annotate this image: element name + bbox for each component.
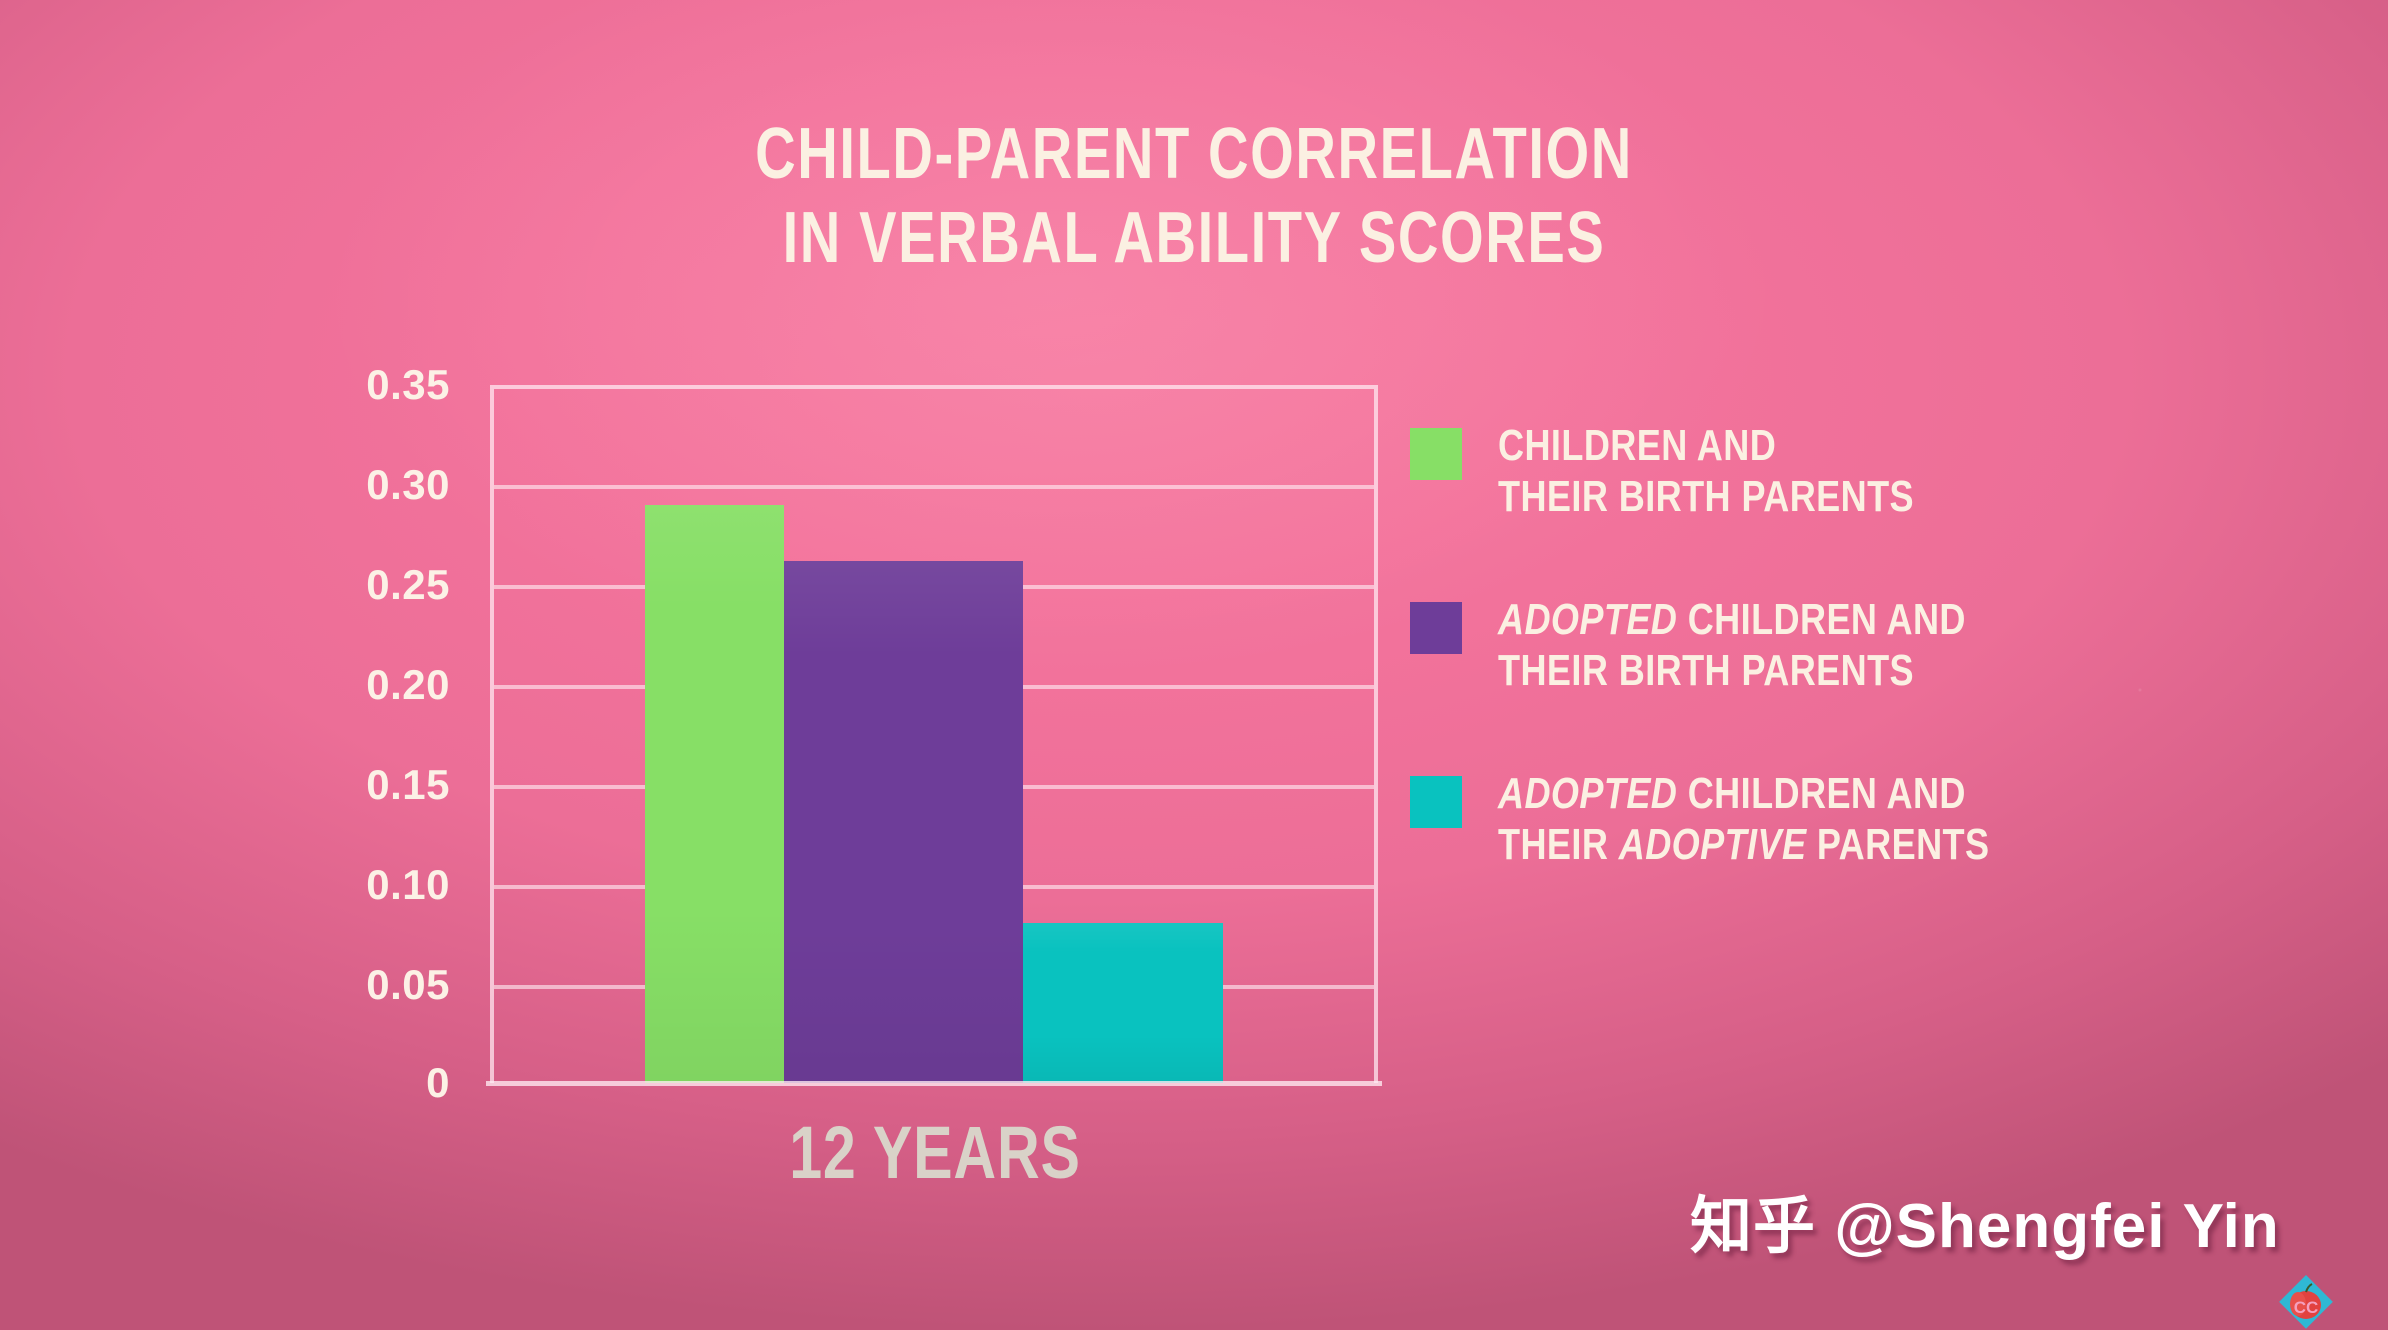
legend-rest: CHILDREN AND xyxy=(1677,595,1966,644)
legend-prefix: THEIR xyxy=(1498,820,1619,869)
crashcourse-logo-letters: CC xyxy=(2294,1298,2319,1317)
legend-label-line-1: CHILDREN AND xyxy=(1498,420,1914,471)
page-title-line-2: IN VERBAL ABILITY SCORES xyxy=(263,196,2126,280)
x-axis-category-label: 12 YEARS xyxy=(699,1110,1171,1195)
legend-rest: THEIR BIRTH PARENTS xyxy=(1498,646,1914,695)
legend-label-line-2: THEIR BIRTH PARENTS xyxy=(1498,645,1966,696)
y-tick-label: 0.30 xyxy=(250,461,450,509)
legend-swatch-cyan xyxy=(1410,776,1462,828)
legend-label: ADOPTED CHILDREN AND THEIR ADOPTIVE PARE… xyxy=(1498,768,1989,870)
legend-item-adopted-children-adoptive-parents[interactable]: ADOPTED CHILDREN AND THEIR ADOPTIVE PARE… xyxy=(1410,768,2350,870)
legend-label: CHILDREN AND THEIR BIRTH PARENTS xyxy=(1498,420,1914,522)
legend-label-line-2: THEIR BIRTH PARENTS xyxy=(1498,471,1914,522)
legend-label: ADOPTED CHILDREN AND THEIR BIRTH PARENTS xyxy=(1498,594,1966,696)
bar-sheen xyxy=(1023,923,1223,1083)
bar-adopted-children-birth-parents[interactable] xyxy=(784,561,1023,1084)
legend-rest: CHILDREN AND xyxy=(1677,769,1966,818)
bar-children-birth-parents[interactable] xyxy=(645,505,784,1083)
legend-label-line-1: ADOPTED CHILDREN AND xyxy=(1498,768,1989,819)
y-tick-label: 0.35 xyxy=(250,361,450,409)
y-tick-label: 0.15 xyxy=(250,761,450,809)
legend-label-line-1: ADOPTED CHILDREN AND xyxy=(1498,594,1966,645)
y-tick-label: 0.05 xyxy=(250,961,450,1009)
x-axis-baseline xyxy=(486,1081,1382,1086)
watermark: 知乎 @Shengfei Yin xyxy=(1690,1175,2280,1265)
y-tick-label: 0 xyxy=(250,1059,450,1107)
gridline xyxy=(494,485,1374,489)
legend-item-adopted-children-birth-parents[interactable]: ADOPTED CHILDREN AND THEIR BIRTH PARENTS xyxy=(1410,594,2350,696)
chart-screenshot: CHILD-PARENT CORRELATION IN VERBAL ABILI… xyxy=(0,0,2388,1330)
legend-rest: PARENTS xyxy=(1806,820,1989,869)
y-tick-label: 0.20 xyxy=(250,661,450,709)
legend-label-line-2: THEIR ADOPTIVE PARENTS xyxy=(1498,819,1989,870)
page-title-line-1: CHILD-PARENT CORRELATION xyxy=(263,112,2126,196)
y-tick-label: 0.10 xyxy=(250,861,450,909)
bar-sheen xyxy=(784,561,1023,1084)
bar-sheen xyxy=(645,505,784,1083)
y-tick-label: 0.25 xyxy=(250,561,450,609)
crashcourse-logo-icon: CC xyxy=(2276,1272,2336,1330)
legend-rest: CHILDREN AND xyxy=(1498,421,1776,470)
crashcourse-logo: CC xyxy=(2276,1272,2336,1330)
legend-emphasis: ADOPTIVE xyxy=(1619,820,1807,869)
legend-swatch-green xyxy=(1410,428,1462,480)
legend-item-children-birth-parents[interactable]: CHILDREN AND THEIR BIRTH PARENTS xyxy=(1410,420,2350,522)
legend: CHILDREN AND THEIR BIRTH PARENTS ADOPTED… xyxy=(1410,420,2350,942)
page-title: CHILD-PARENT CORRELATION IN VERBAL ABILI… xyxy=(263,112,2126,280)
plot-area xyxy=(490,385,1378,1083)
legend-emphasis: ADOPTED xyxy=(1498,595,1677,644)
legend-rest: THEIR BIRTH PARENTS xyxy=(1498,472,1914,521)
legend-swatch-purple xyxy=(1410,602,1462,654)
legend-emphasis: ADOPTED xyxy=(1498,769,1677,818)
bar-adopted-children-adoptive-parents[interactable] xyxy=(1023,923,1223,1083)
